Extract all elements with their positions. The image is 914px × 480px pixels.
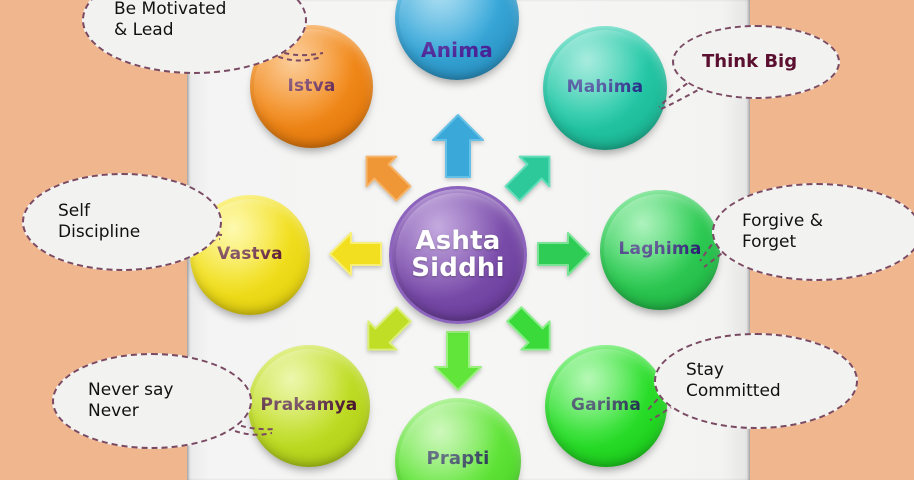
node-anima-label: Anima xyxy=(421,40,493,61)
callout-be-motivated-text: Be Motivated & Lead xyxy=(114,0,226,41)
node-garima-label: Garima xyxy=(571,397,641,415)
callout-never-say-never-text: Never say Never xyxy=(88,380,173,423)
center-node-ashta-siddhi[interactable]: Ashta Siddhi xyxy=(389,186,527,324)
callout-stay-committed[interactable]: Stay Committed xyxy=(654,333,858,429)
arrow-left-icon xyxy=(327,226,385,282)
callout-never-say-never[interactable]: Never say Never xyxy=(52,353,252,449)
callout-self-discipline-line2: Discipline xyxy=(58,222,140,242)
callout-stay-committed-text: Stay Committed xyxy=(686,360,781,403)
arrow-up-right-icon xyxy=(501,145,561,205)
callout-forgive-forget-line2: Forget xyxy=(742,232,796,252)
callout-think-big-text: Think Big xyxy=(702,51,797,74)
callout-self-discipline-text: Self Discipline xyxy=(58,201,140,244)
arrow-up-left-icon xyxy=(355,145,415,205)
center-line-2: Siddhi xyxy=(411,253,504,283)
callout-self-discipline-line1: Self xyxy=(58,201,90,221)
center-node-label: Ashta Siddhi xyxy=(411,228,504,283)
callout-forgive-forget-line1: Forgive & xyxy=(742,211,823,231)
arrow-up-icon xyxy=(431,113,485,179)
callout-never-say-never-line1: Never say xyxy=(88,380,173,400)
node-mahima-label: Mahima xyxy=(567,79,644,97)
arrow-down-icon xyxy=(431,330,485,392)
center-line-1: Ashta xyxy=(415,226,500,256)
callout-forgive-forget-text: Forgive & Forget xyxy=(742,211,823,254)
node-mahima[interactable]: Mahima xyxy=(543,26,667,150)
node-prapti-label: Prapti xyxy=(426,450,489,469)
arrow-down-left-icon xyxy=(357,303,415,361)
node-laghima-label: Laghima xyxy=(619,241,702,259)
callout-stay-committed-line2: Committed xyxy=(686,381,781,401)
callout-be-motivated-line1: Be Motivated xyxy=(114,0,226,19)
ashta-siddhi-diagram: Anima Istva Mahima Vastva Laghima Prakam… xyxy=(0,0,914,480)
callout-think-big[interactable]: Think Big xyxy=(672,25,840,99)
callout-think-big-line1: Think Big xyxy=(702,51,797,72)
node-istva-label: Istva xyxy=(287,78,335,96)
callout-stay-committed-line1: Stay xyxy=(686,360,724,380)
callout-self-discipline[interactable]: Self Discipline xyxy=(22,173,222,271)
callout-never-say-never-line2: Never xyxy=(88,401,139,421)
callout-forgive-forget[interactable]: Forgive & Forget xyxy=(712,183,914,281)
arrow-right-icon xyxy=(534,226,592,282)
callout-be-motivated-line2: & Lead xyxy=(114,20,174,40)
arrow-down-right-icon xyxy=(503,303,561,361)
